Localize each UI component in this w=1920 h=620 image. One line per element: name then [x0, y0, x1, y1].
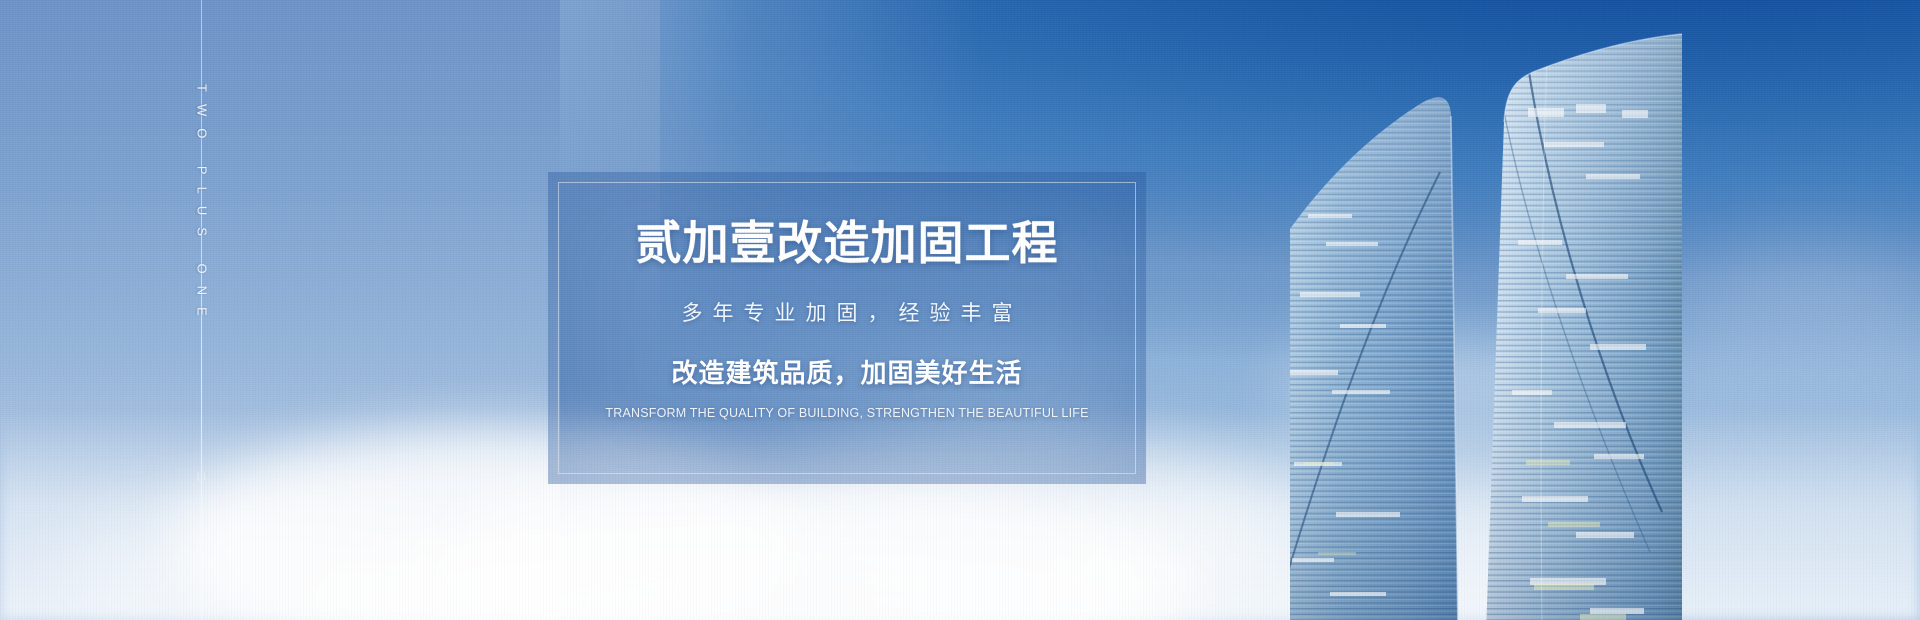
hero-banner: TWO PLUS ONE 二 贰加壹改造加固工程 多年专业加固，经验丰富 改造建… [0, 0, 1920, 620]
brand-rail: TWO PLUS ONE 二 [172, 0, 232, 620]
slogan-english: TRANSFORM THE QUALITY OF BUILDING, STREN… [605, 406, 1088, 420]
panel-copy: 贰加壹改造加固工程 多年专业加固，经验丰富 改造建筑品质，加固美好生活 TRAN… [548, 218, 1146, 420]
brand-vertical-text: TWO PLUS ONE [195, 84, 210, 328]
skyscraper-illustration [1290, 0, 1920, 620]
brand-corner-mark: 二 [195, 472, 210, 484]
message-panel: 贰加壹改造加固工程 多年专业加固，经验丰富 改造建筑品质，加固美好生活 TRAN… [548, 172, 1146, 484]
headline-primary: 贰加壹改造加固工程 [636, 218, 1059, 269]
headline-secondary: 多年专业加固，经验丰富 [672, 297, 1023, 327]
slogan-chinese: 改造建筑品质，加固美好生活 [671, 353, 1022, 390]
